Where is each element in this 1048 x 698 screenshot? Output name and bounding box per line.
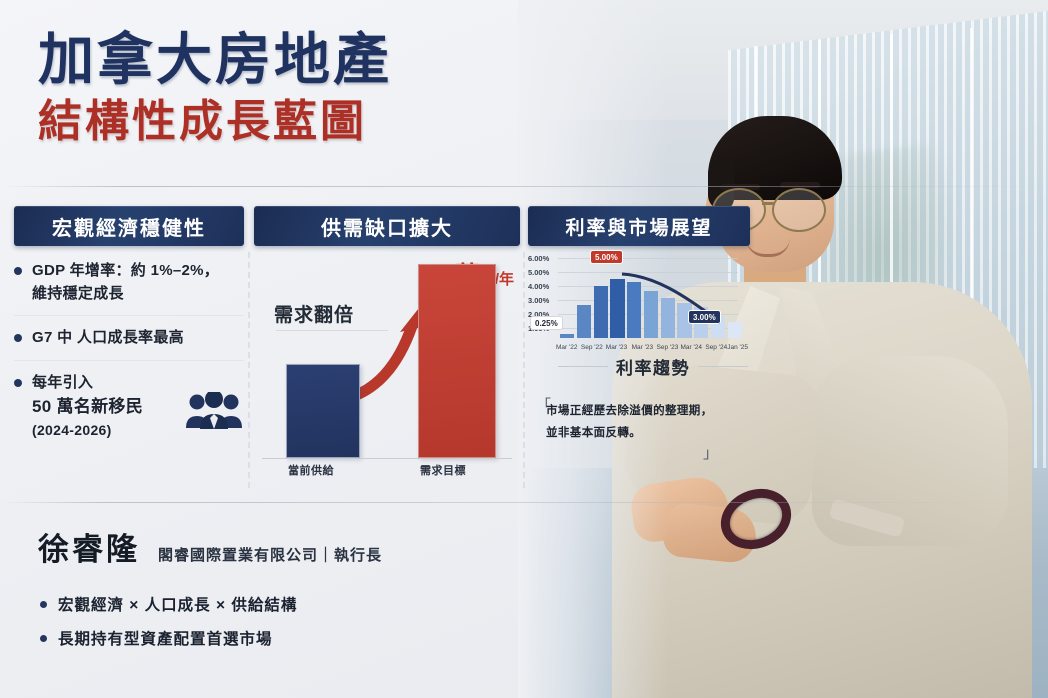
page-title: 加拿大房地產 結構性成長藍圖	[38, 30, 392, 147]
quote-close-mark: 」	[703, 442, 718, 463]
badge-rate-start: 0.25%	[530, 316, 563, 330]
card-header-rates: 利率與市場展望	[528, 206, 750, 246]
footer-divider	[0, 502, 1048, 503]
x-axis-labels: Mar '22 Sep '22 Mar '23 Mar '23 Sep '23 …	[556, 344, 748, 351]
x-axis-label-current-supply: 當前供給	[288, 462, 334, 478]
bullet-dot-icon	[14, 334, 22, 342]
card-supply-demand: 供需缺口擴大 50萬戶/年 需求翻倍 當前供給 需求目標	[254, 206, 520, 484]
gridline	[558, 258, 738, 259]
caption-rule-left	[558, 366, 608, 367]
bullet-dot-icon	[40, 601, 47, 608]
bullet-dot-icon	[14, 267, 22, 275]
card-header-label: 供需缺口擴大	[321, 212, 453, 241]
bullet-dot-icon	[40, 635, 47, 642]
card-divider-2	[523, 252, 525, 488]
x-axis-tick: Jan '25	[727, 344, 748, 351]
y-axis-tick: 5.00%	[528, 268, 549, 277]
card-divider-1	[248, 252, 250, 488]
cards-row: 宏觀經濟穩健性 GDP 年增率：約 1%–2%， 維持穩定成長 G7 中 人口成…	[0, 206, 1048, 496]
caption-rule-right	[698, 366, 748, 367]
bullet-text-line1: G7 中 人口成長率最高	[32, 327, 244, 350]
speaker-credit: 徐睿隆 閣睿國際置業有限公司｜執行長 宏觀經濟 × 人口成長 × 供給結構 長期…	[38, 524, 382, 661]
trend-caption-row: 利率趨勢	[558, 354, 748, 379]
list-item: 每年引入 50 萬名新移民 (2024-2026)	[14, 372, 244, 441]
card-header-label: 宏觀經濟穩健性	[52, 212, 206, 241]
x-axis-tick: Mar '23	[632, 344, 657, 351]
list-item: GDP 年增率：約 1%–2%， 維持穩定成長	[14, 260, 244, 305]
card-macro-economy: 宏觀經濟穩健性 GDP 年增率：約 1%–2%， 維持穩定成長 G7 中 人口成…	[14, 206, 244, 450]
card-header-supply: 供需缺口擴大	[254, 206, 520, 246]
y-axis-tick: 3.00%	[528, 296, 549, 305]
supply-demand-bar-chart: 50萬戶/年 需求翻倍 當前供給 需求目標	[254, 252, 520, 484]
x-axis-tick: Sep '24	[705, 344, 727, 351]
speaker-role: 執行長	[334, 547, 382, 564]
bar-current-supply	[286, 364, 360, 458]
people-group-icon	[184, 392, 244, 430]
x-axis-tick: Mar '22	[556, 344, 581, 351]
bullet-text-line2: 維持穩定成長	[32, 283, 244, 306]
x-axis-tick: Sep '22	[581, 344, 606, 351]
trend-caption-label: 利率趨勢	[616, 354, 690, 379]
list-item: G7 中 人口成長率最高	[14, 327, 244, 350]
list-item: 宏觀經濟 × 人口成長 × 供給結構	[38, 593, 382, 615]
list-item: 長期持有型資產配置首選市場	[38, 627, 382, 649]
badge-rate-end: 3.00%	[688, 310, 721, 324]
bullet-dot-icon	[14, 379, 22, 387]
title-line-secondary: 結構性成長藍圖	[38, 98, 392, 146]
meta-separator: ｜	[318, 547, 334, 564]
interest-rate-bar-chart: 6.00% 5.00% 4.00% 3.00% 2.00% 1.00%	[528, 254, 750, 350]
macro-bullet-list: GDP 年增率：約 1%–2%， 維持穩定成長 G7 中 人口成長率最高 每年引…	[14, 260, 244, 441]
x-axis-tick: Sep '23	[657, 344, 681, 351]
speaker-name: 徐睿隆	[38, 524, 140, 569]
x-axis-tick: Mar '24	[680, 344, 705, 351]
speaker-name-row: 徐睿隆 閣睿國際置業有限公司｜執行長	[38, 524, 382, 569]
bullet-separator	[14, 360, 244, 361]
title-divider	[0, 186, 1048, 187]
y-axis-tick: 6.00%	[528, 254, 549, 263]
card-header-label: 利率與市場展望	[565, 213, 712, 240]
badge-rate-peak: 5.00%	[590, 250, 623, 264]
speaker-company-role: 閣睿國際置業有限公司｜執行長	[158, 544, 382, 565]
quote-open-mark: 「	[536, 394, 551, 415]
declining-trend-arrow-icon	[560, 260, 746, 338]
bullet-text-line1: GDP 年增率：約 1%–2%，	[32, 260, 244, 283]
infographic-root: 加拿大房地產 結構性成長藍圖 宏觀經濟穩健性 GDP 年增率：約 1%–2%， …	[0, 0, 1048, 698]
footer-bullet-text: 宏觀經濟 × 人口成長 × 供給結構	[58, 597, 297, 614]
card-interest-rate-outlook: 利率與市場展望 6.00% 5.00% 4.00% 3.00% 2.00% 1.…	[528, 206, 750, 350]
x-axis-tick: Mar '23	[606, 344, 632, 351]
bullet-separator	[14, 315, 244, 316]
bar-demand-target	[418, 264, 496, 458]
title-line-primary: 加拿大房地產	[38, 30, 392, 90]
card-header-macro: 宏觀經濟穩健性	[14, 206, 244, 246]
x-axis-label-demand-target: 需求目標	[420, 462, 466, 478]
chart-baseline	[262, 458, 512, 459]
market-quote: 「 市場正經歷去除溢價的整理期， 並非基本面反轉。 」	[536, 400, 746, 445]
footer-bullet-list: 宏觀經濟 × 人口成長 × 供給結構 長期持有型資產配置首選市場	[38, 593, 382, 649]
glasses-bridge	[762, 202, 774, 205]
quote-line-1: 市場正經歷去除溢價的整理期，	[536, 400, 746, 422]
y-axis-tick: 4.00%	[528, 282, 549, 291]
footer-bullet-text: 長期持有型資產配置首選市場	[58, 631, 273, 648]
company-name: 閣睿國際置業有限公司	[158, 547, 318, 564]
